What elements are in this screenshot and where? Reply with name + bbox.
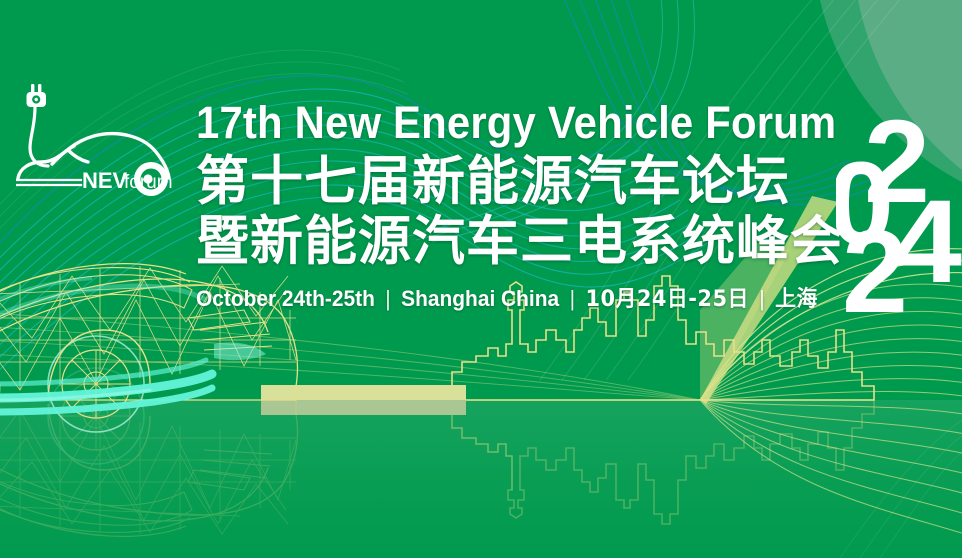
headline-english: 17th New Energy Vehicle Forum <box>196 98 791 148</box>
logo-wordmark-bold: NEV <box>82 168 128 193</box>
year-2024-graphic: 2 0 2 4 <box>836 106 962 318</box>
separator-1: | <box>385 286 390 312</box>
event-location-english: Shanghai China <box>401 286 559 312</box>
separator-3: | <box>759 286 764 312</box>
event-info-line: October 24th-25th | Shanghai China | 10月… <box>196 281 804 313</box>
event-date-english: October 24th-25th <box>196 286 375 312</box>
nev-forum-logo[interactable]: NEV forum <box>8 78 183 208</box>
headline-block: 17th New Energy Vehicle Forum 第十七届新能源汽车论… <box>196 98 836 313</box>
road-bar-graphic <box>261 385 466 415</box>
reflection-floor <box>0 400 962 558</box>
headline-chinese-sub: 暨新能源汽车三电系统峰会 <box>196 211 836 273</box>
headline-chinese-main: 第十七届新能源汽车论坛 <box>196 151 836 213</box>
event-date-chinese: 10月24日-25日 <box>585 281 748 313</box>
logo-wordmark-light: forum <box>124 172 173 193</box>
charging-plug-icon <box>27 84 47 107</box>
road-bar-bottom <box>261 400 466 415</box>
event-location-chinese: 上海 <box>775 281 818 313</box>
separator-2: | <box>570 286 575 312</box>
road-bar-top <box>261 385 466 400</box>
event-poster: NEV forum 17th New Energy Vehicle Forum … <box>0 0 962 558</box>
logo-rule <box>16 180 82 185</box>
year-digit-4: 4 <box>892 176 962 308</box>
